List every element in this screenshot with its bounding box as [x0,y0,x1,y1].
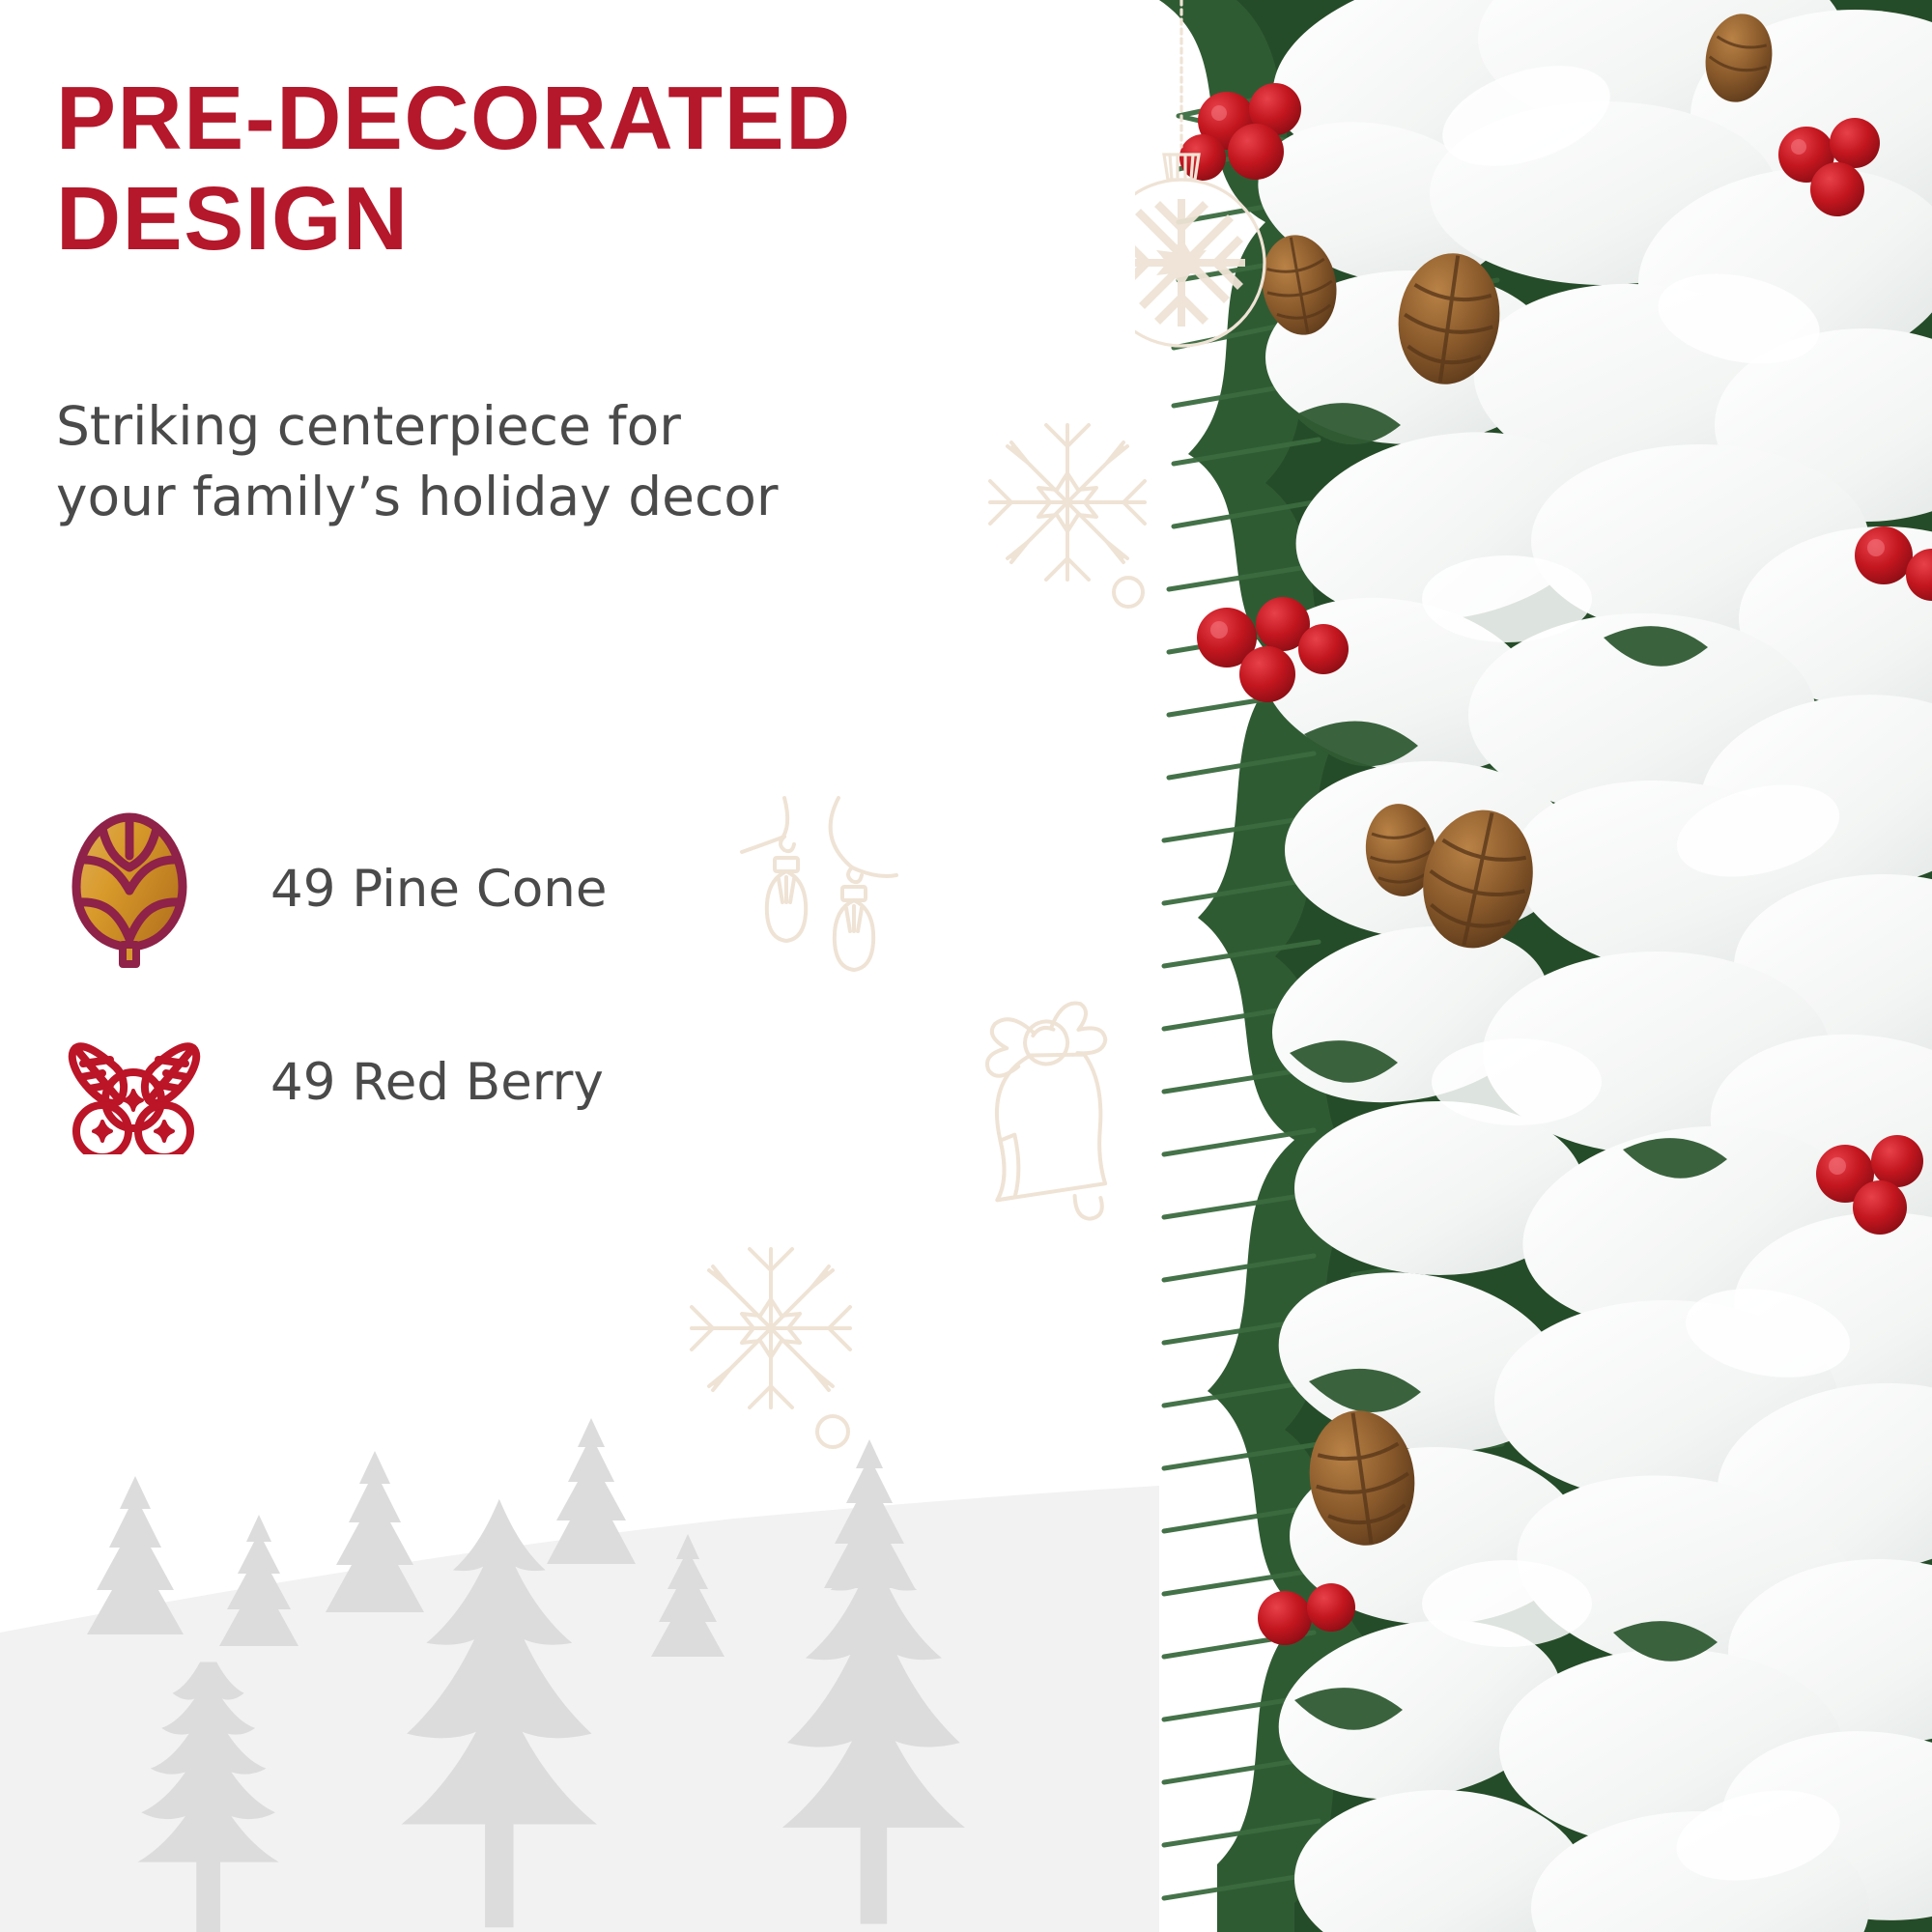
flocked-christmas-tree-photo [1121,0,1932,1932]
list-item: 49 Red Berry [60,985,608,1179]
list-item: 49 Pine Cone [60,792,608,985]
feature-list: 49 Pine Cone [60,792,608,1179]
pine-forest-silhouette [0,1314,1159,1932]
subtitle: Striking centerpiece for your family’s h… [56,391,925,532]
list-item-label: 49 Pine Cone [270,860,608,919]
list-item-label: 49 Red Berry [270,1053,604,1112]
page-title: PRE-DECORATED DESIGN [56,68,1080,269]
red-berry-icon [60,1003,205,1162]
pine-cone-icon [60,810,205,969]
marketing-banner: PRE-DECORATED DESIGN Striking centerpiec… [0,0,1932,1932]
